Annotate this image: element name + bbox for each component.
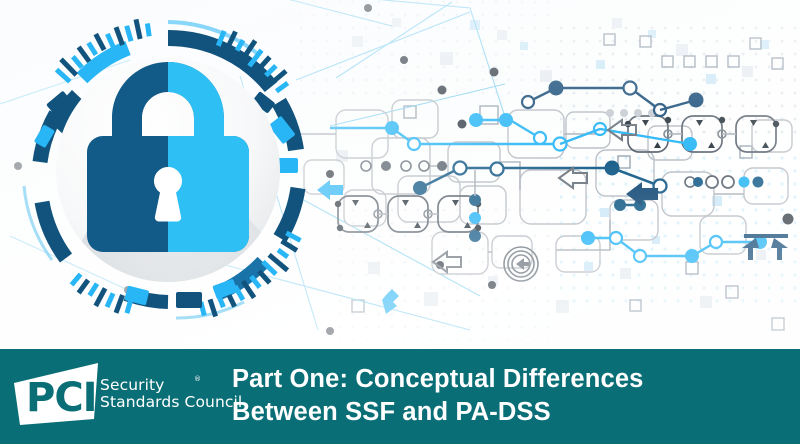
registered-trademark-icon: ®	[194, 375, 201, 383]
pci-ssc-logo[interactable]: PCI Security Standards Council ®	[12, 361, 217, 431]
svg-text:PCI: PCI	[26, 375, 97, 421]
title-banner: PCI Security Standards Council ® Part On…	[0, 349, 800, 444]
logo-line-1: Security	[100, 377, 242, 394]
padlock-emblem	[8, 10, 328, 330]
padlock-icon	[8, 10, 328, 330]
pci-logo-wordmark: Security Standards Council	[100, 377, 242, 411]
headline-line-2: Between SSF and PA-DSS	[232, 396, 788, 429]
screenshot-root: PCI Security Standards Council ® Part On…	[0, 0, 800, 444]
hero-banner-image	[0, 0, 800, 349]
logo-line-2: Standards Council	[100, 394, 242, 411]
banner-headline: Part One: Conceptual Differences Between…	[232, 363, 788, 428]
headline-line-1: Part One: Conceptual Differences	[232, 363, 788, 396]
